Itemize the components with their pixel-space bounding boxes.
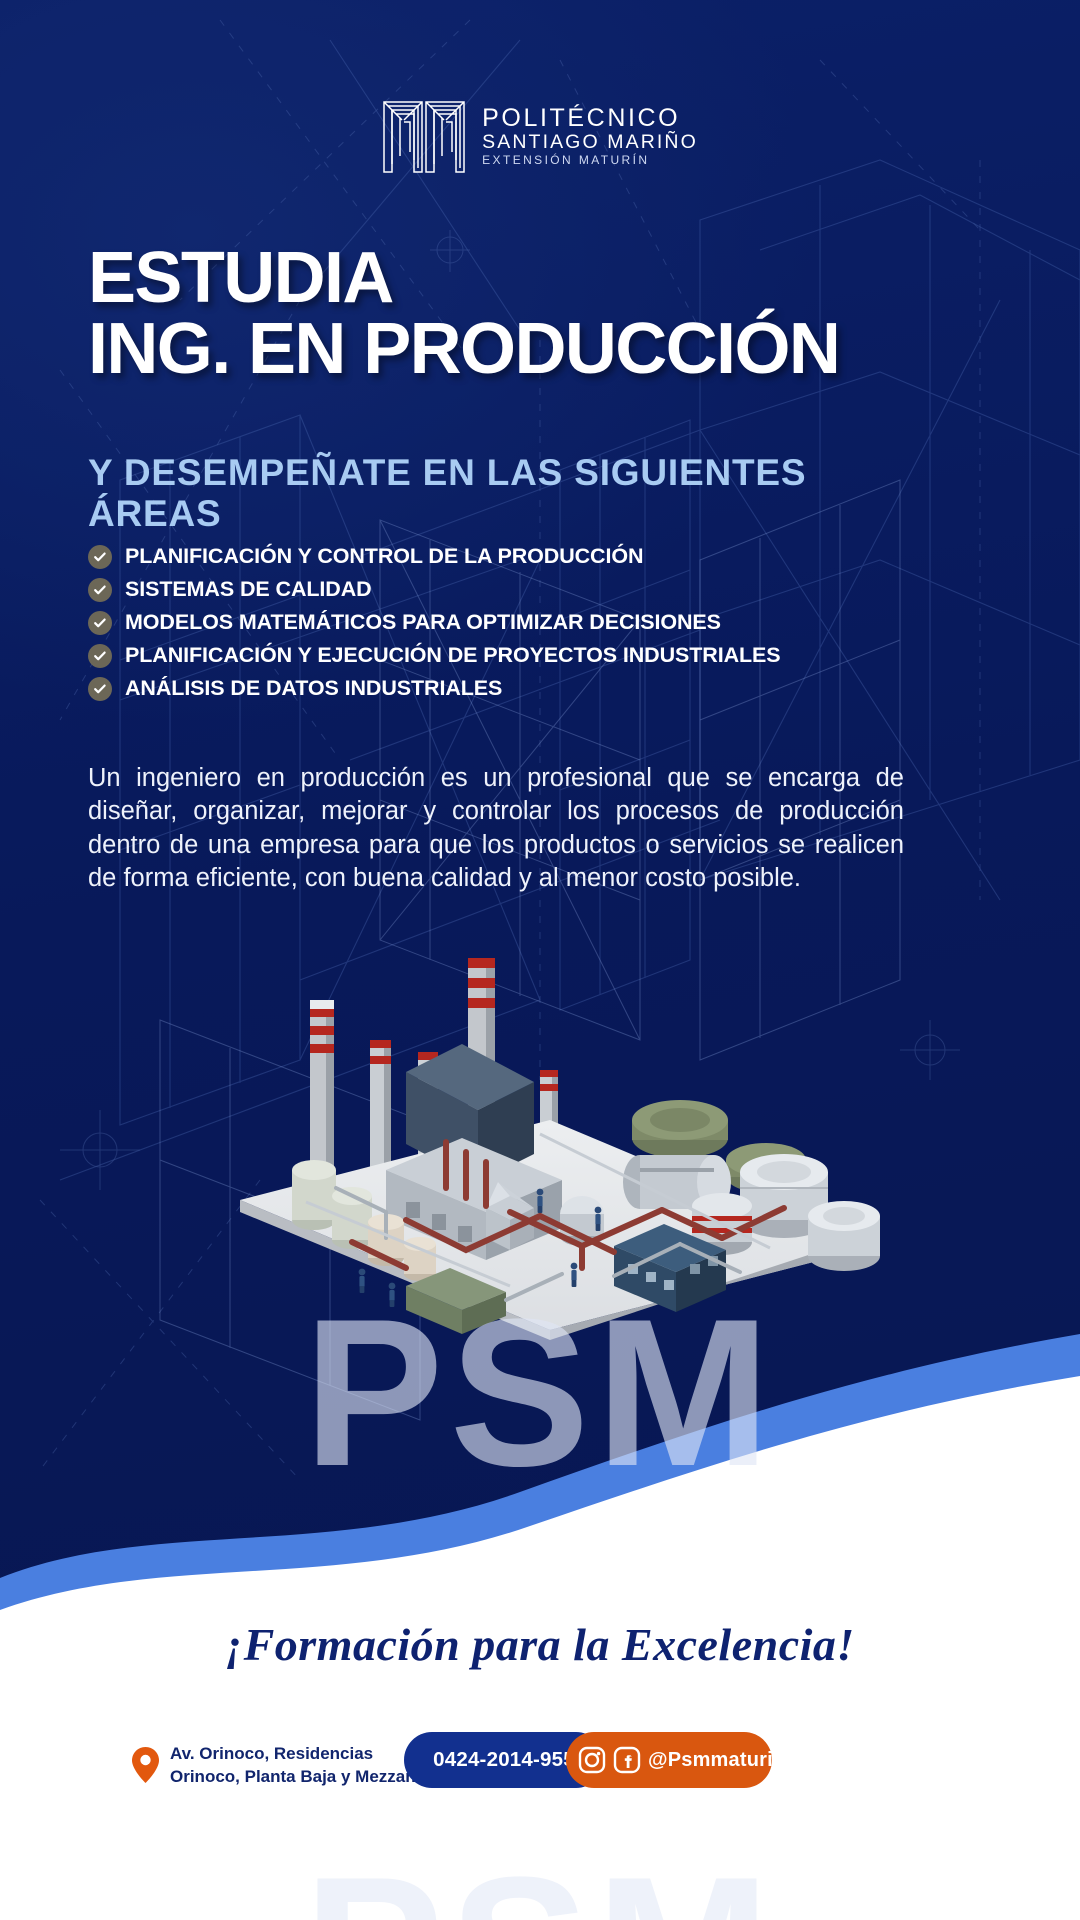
headline-line-2: ING. EN PRODUCCIÓN (88, 314, 1018, 385)
phone-label: 0424-2014-955 (433, 1748, 575, 1772)
tagline: ¡Formación para la Excelencia! (0, 1618, 1080, 1671)
check-circle-icon (88, 545, 112, 569)
page-title: ESTUDIA ING. EN PRODUCCIÓN (88, 243, 1018, 386)
brand-logo: POLITÉCNICO SANTIAGO MARIÑO EXTENSIÓN MA… (0, 98, 1080, 174)
list-item-label: PLANIFICACIÓN Y EJECUCIÓN DE PROYECTOS I… (125, 643, 781, 668)
check-circle-icon (88, 611, 112, 635)
psm-watermark-bottom: PSM (0, 1830, 1080, 1920)
brand-line-3: EXTENSIÓN MATURÍN (482, 154, 698, 167)
poster-canvas: POLITÉCNICO SANTIAGO MARIÑO EXTENSIÓN MA… (0, 0, 1080, 1920)
list-item-label: PLANIFICACIÓN Y CONTROL DE LA PRODUCCIÓN (125, 544, 643, 569)
list-item: SISTEMAS DE CALIDAD (88, 573, 988, 606)
list-item: PLANIFICACIÓN Y EJECUCIÓN DE PROYECTOS I… (88, 639, 988, 672)
list-item: PLANIFICACIÓN Y CONTROL DE LA PRODUCCIÓN (88, 540, 988, 573)
areas-list: PLANIFICACIÓN Y CONTROL DE LA PRODUCCIÓN… (88, 540, 988, 705)
psm-monogram-icon (382, 98, 466, 174)
social-handle-button[interactable]: @Psmmaturin (566, 1732, 772, 1788)
address-line-2: Orinoco, Planta Baja y Mezzanina (170, 1765, 440, 1788)
brand-line-1: POLITÉCNICO (482, 104, 698, 132)
check-circle-icon (88, 578, 112, 602)
map-pin-icon (132, 1747, 159, 1783)
list-item-label: ANÁLISIS DE DATOS INDUSTRIALES (125, 676, 502, 701)
address-line-1: Av. Orinoco, Residencias (170, 1742, 440, 1765)
list-item: MODELOS MATEMÁTICOS PARA OPTIMIZAR DECIS… (88, 606, 988, 639)
headline-line-1: ESTUDIA (88, 238, 393, 318)
list-item-label: SISTEMAS DE CALIDAD (125, 577, 372, 602)
list-item: ANÁLISIS DE DATOS INDUSTRIALES (88, 672, 988, 705)
instagram-icon[interactable] (578, 1746, 606, 1774)
footer-contact-address: Av. Orinoco, Residencias Orinoco, Planta… (132, 1742, 440, 1788)
brand-line-2: SANTIAGO MARIÑO (482, 132, 698, 154)
description-text: Un ingeniero en producción es un profesi… (88, 762, 904, 896)
list-item-label: MODELOS MATEMÁTICOS PARA OPTIMIZAR DECIS… (125, 610, 721, 635)
subheadline: Y DESEMPEÑATE EN LAS SIGUIENTES ÁREAS (88, 452, 948, 535)
check-circle-icon (88, 677, 112, 701)
facebook-icon[interactable] (613, 1746, 641, 1774)
social-handle-label: @Psmmaturin (648, 1749, 785, 1772)
address-block: Av. Orinoco, Residencias Orinoco, Planta… (170, 1742, 440, 1788)
check-circle-icon (88, 644, 112, 668)
psm-watermark-top: PSM (0, 1272, 1080, 1514)
